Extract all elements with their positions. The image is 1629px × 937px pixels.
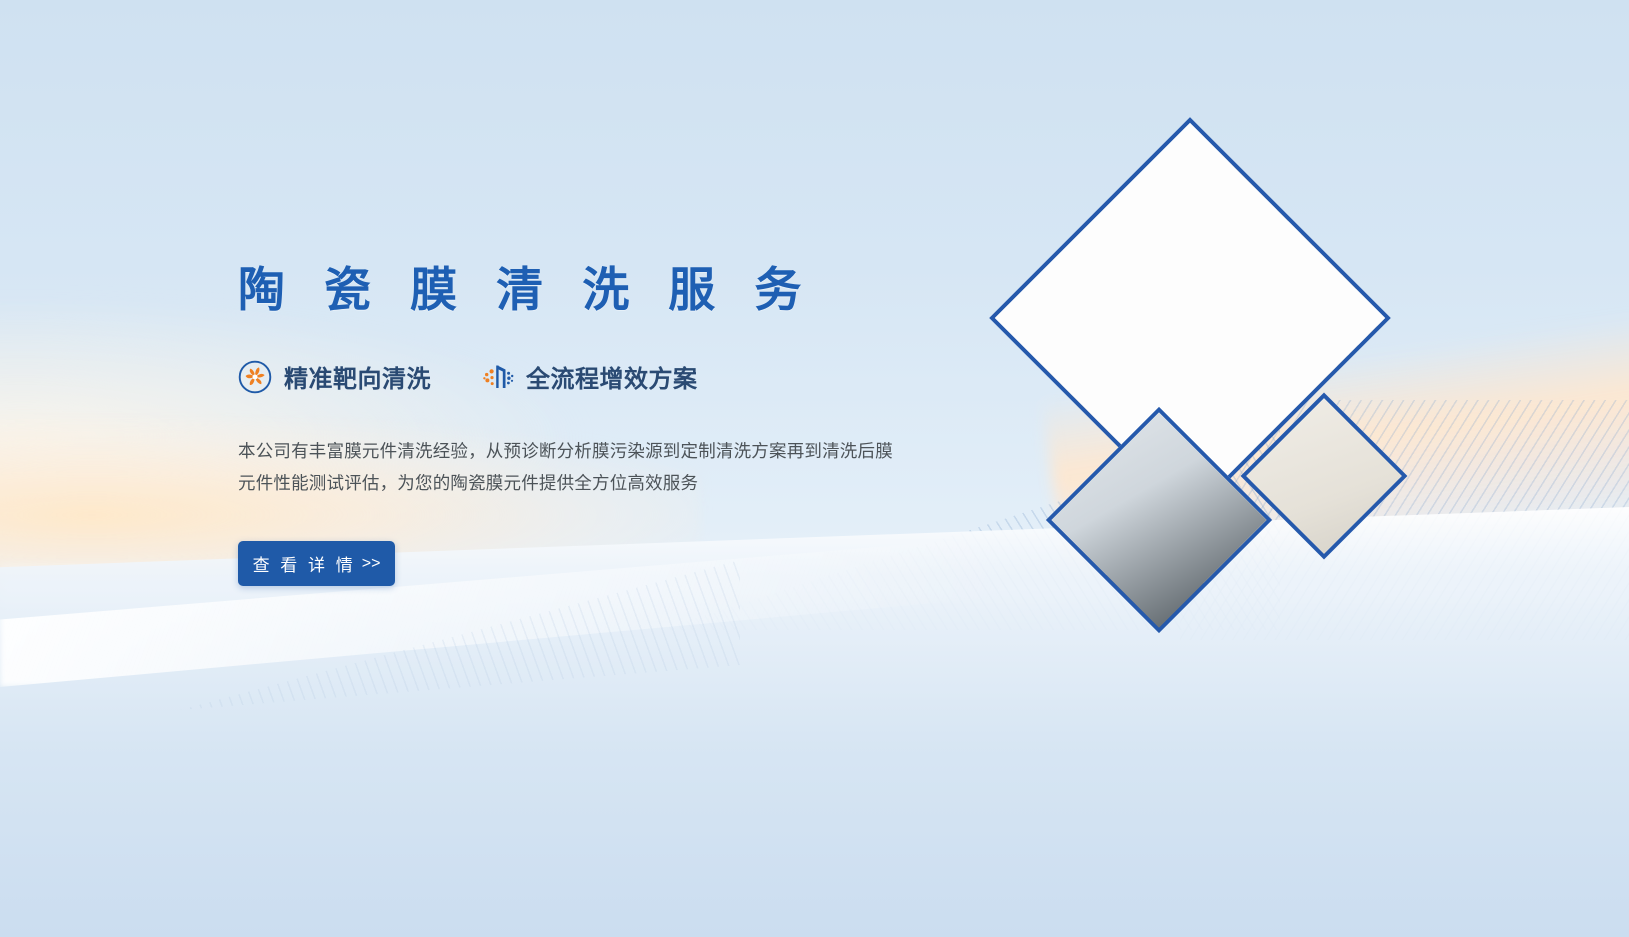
- feature-label: 精准靶向清洗: [284, 359, 431, 394]
- page-title: 陶 瓷 膜 清 洗 服 务: [238, 262, 998, 318]
- feature-item-full-process: 全流程增效方案: [480, 359, 698, 394]
- chevron-right-icon: >>: [362, 555, 381, 573]
- view-details-label: 查 看 详 情: [253, 551, 356, 576]
- hero-banner: 陶 瓷 膜 清 洗 服 务: [0, 0, 1629, 937]
- feature-list: 精准靶向清洗: [238, 359, 998, 394]
- feature-label: 全流程增效方案: [526, 359, 698, 394]
- flow-flag-icon: [480, 360, 514, 394]
- view-details-button[interactable]: 查 看 详 情 >>: [238, 541, 395, 586]
- feature-item-precision-cleaning: 精准靶向清洗: [238, 359, 431, 394]
- hero-content: 陶 瓷 膜 清 洗 服 务: [238, 262, 998, 586]
- description-text: 本公司有丰富膜元件清洗经验，从预诊断分析膜污染源到定制清洗方案再到清洗后膜元件性…: [238, 435, 903, 499]
- pinwheel-icon: [238, 360, 272, 394]
